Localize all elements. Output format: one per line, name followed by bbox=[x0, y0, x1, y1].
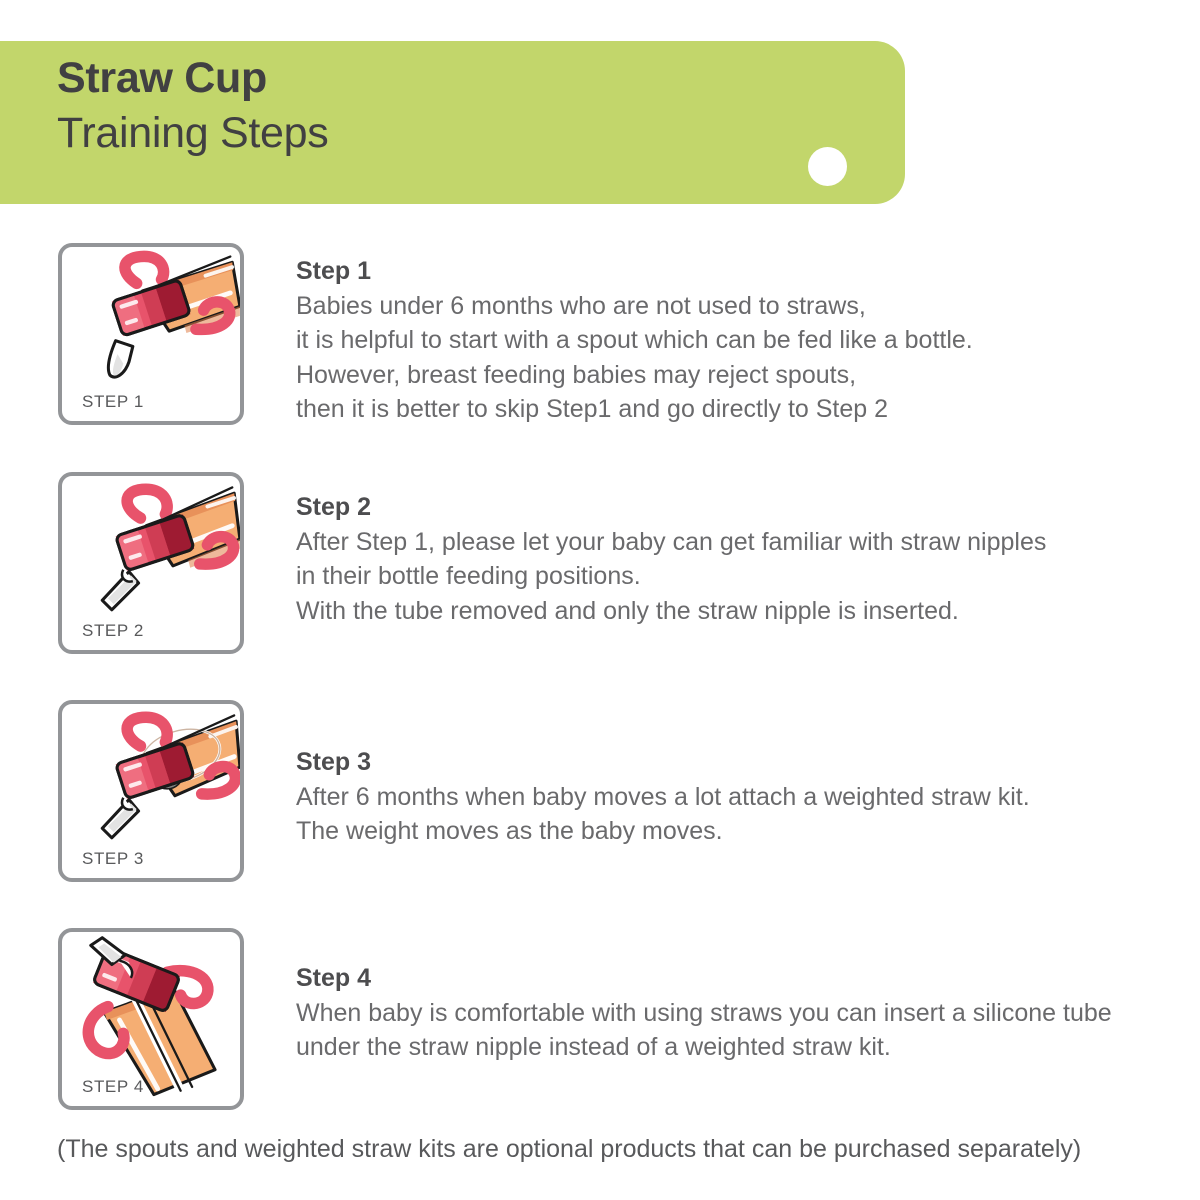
step-2-line-1: After Step 1, please let your baby can g… bbox=[296, 525, 1176, 560]
step-4-line-2: under the straw nipple instead of a weig… bbox=[296, 1030, 1176, 1065]
step-2-heading: Step 2 bbox=[296, 490, 1176, 525]
step-3-box-label: STEP 3 bbox=[82, 849, 144, 869]
step-1-text-block: Step 1 Babies under 6 months who are not… bbox=[296, 254, 1176, 427]
footer-note: (The spouts and weighted straw kits are … bbox=[57, 1135, 1081, 1164]
step-4-box-label: STEP 4 bbox=[82, 1077, 144, 1097]
step-3-illustration-box: STEP 3 bbox=[58, 700, 244, 882]
step-2-illustration-box: STEP 2 bbox=[58, 472, 244, 654]
step-4-line-1: When baby is comfortable with using stra… bbox=[296, 996, 1176, 1031]
step-4-heading: Step 4 bbox=[296, 961, 1176, 996]
step-3-text-block: Step 3 After 6 months when baby moves a … bbox=[296, 745, 1176, 849]
step-1-box-label: STEP 1 bbox=[82, 392, 144, 412]
step-1-heading: Step 1 bbox=[296, 254, 1176, 289]
step-3-line-2: The weight moves as the baby moves. bbox=[296, 814, 1176, 849]
step-3-line-1: After 6 months when baby moves a lot att… bbox=[296, 780, 1176, 815]
step-2-line-2: in their bottle feeding positions. bbox=[296, 559, 1176, 594]
step-4-illustration-box: STEP 4 bbox=[58, 928, 244, 1110]
step-2-text-block: Step 2 After Step 1, please let your bab… bbox=[296, 490, 1176, 628]
straw-cup-training-page: Straw Cup Training Steps bbox=[0, 0, 1200, 1200]
step-2-box-label: STEP 2 bbox=[82, 621, 144, 641]
step-1-line-4: then it is better to skip Step1 and go d… bbox=[296, 392, 1176, 427]
step-1-line-2: it is helpful to start with a spout whic… bbox=[296, 323, 1176, 358]
step-2-line-3: With the tube removed and only the straw… bbox=[296, 594, 1176, 629]
step-1-line-1: Babies under 6 months who are not used t… bbox=[296, 289, 1176, 324]
page-subtitle: Training Steps bbox=[57, 111, 328, 156]
step-1-illustration-box: STEP 1 bbox=[58, 243, 244, 425]
step-4-text-block: Step 4 When baby is comfortable with usi… bbox=[296, 961, 1176, 1065]
page-title: Straw Cup bbox=[57, 56, 267, 101]
punch-hole-icon bbox=[808, 147, 847, 186]
step-1-line-3: However, breast feeding babies may rejec… bbox=[296, 358, 1176, 393]
step-3-heading: Step 3 bbox=[296, 745, 1176, 780]
header-green-tag: Straw Cup Training Steps bbox=[0, 41, 905, 204]
